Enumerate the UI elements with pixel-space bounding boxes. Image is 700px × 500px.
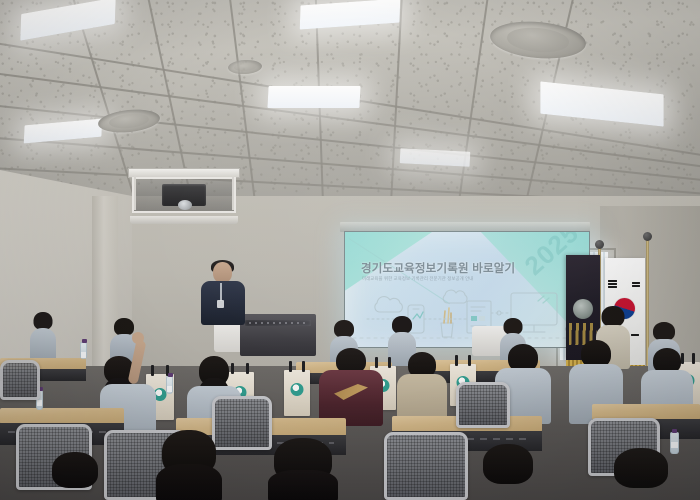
projector-lens-icon — [178, 200, 192, 210]
classroom-photo: 2025 경기도교육정보기록원 바로알기 미래교육을 위한 교육정보 기록관리 … — [0, 0, 700, 500]
tote-handle — [302, 361, 305, 372]
projection-screen: 2025 경기도교육정보기록원 바로알기 미래교육을 위한 교육정보 기록관리 … — [344, 231, 590, 348]
person-body — [30, 328, 56, 362]
person-head — [614, 448, 668, 488]
presenter-lanyard — [220, 283, 222, 301]
audience-member-foreground — [600, 448, 682, 500]
tote-handle — [289, 361, 292, 372]
institution-emblem — [573, 299, 593, 319]
flag-finial-icon — [643, 232, 652, 241]
tote-bag — [284, 370, 310, 416]
trigram-bar — [631, 334, 639, 336]
person-long-hair — [268, 470, 338, 500]
chair[interactable] — [384, 432, 468, 500]
trigram-bar — [632, 282, 640, 284]
audience-member-foreground — [470, 444, 546, 500]
person-long-hair — [156, 464, 222, 500]
flag-finial-icon — [595, 240, 604, 249]
projector-lift-base — [130, 216, 238, 224]
desk — [0, 408, 124, 424]
bottle-cap — [672, 429, 677, 433]
bottle-label — [37, 400, 42, 406]
raised-hand — [132, 332, 144, 344]
person-head — [52, 452, 98, 488]
chair[interactable] — [0, 360, 40, 400]
trigram-bar — [632, 285, 640, 287]
tote-handle — [388, 357, 391, 368]
person-head — [602, 306, 625, 327]
podium-control-buttons — [249, 322, 307, 324]
presenter-head — [213, 262, 232, 283]
chair-mesh-back — [0, 360, 40, 400]
tote-handle — [455, 355, 458, 366]
bottle-cap — [168, 373, 173, 377]
trigram-bar — [608, 280, 617, 282]
audience-member-foreground — [256, 438, 350, 500]
chair-mesh-back — [456, 382, 510, 428]
bottle-cap — [82, 339, 87, 343]
audience-member-hoodie — [318, 348, 384, 426]
audience-member-foreground — [40, 452, 110, 500]
ceiling-projector-lift — [128, 168, 240, 224]
projector-lift-arm — [134, 176, 136, 210]
podium — [240, 314, 316, 356]
ceiling-light-panel — [267, 86, 360, 108]
trigram-bar — [608, 286, 617, 288]
tote-handle — [468, 355, 471, 366]
presenter — [200, 262, 246, 324]
audience-member — [30, 312, 56, 360]
bottle-label — [81, 352, 86, 358]
tote-logo-icon — [291, 383, 304, 396]
chair[interactable] — [456, 382, 510, 428]
projector-lift-arm — [232, 176, 234, 210]
audience-member-foreground — [146, 430, 232, 500]
water-bottle — [80, 342, 87, 359]
slide-title-text: 경기도교육정보기록원 바로알기 — [361, 260, 515, 276]
chair-mesh-back — [384, 432, 468, 500]
slide-subtitle-text: 미래교육을 위한 교육정보 기록관리 전문기관 정보공개 안내 — [362, 276, 473, 282]
bottle-label — [167, 386, 172, 392]
trigram-bar — [608, 283, 617, 285]
water-bottle — [166, 376, 173, 394]
presenter-id-badge — [217, 300, 224, 308]
person-head — [483, 444, 533, 484]
tote-handle — [246, 363, 249, 374]
